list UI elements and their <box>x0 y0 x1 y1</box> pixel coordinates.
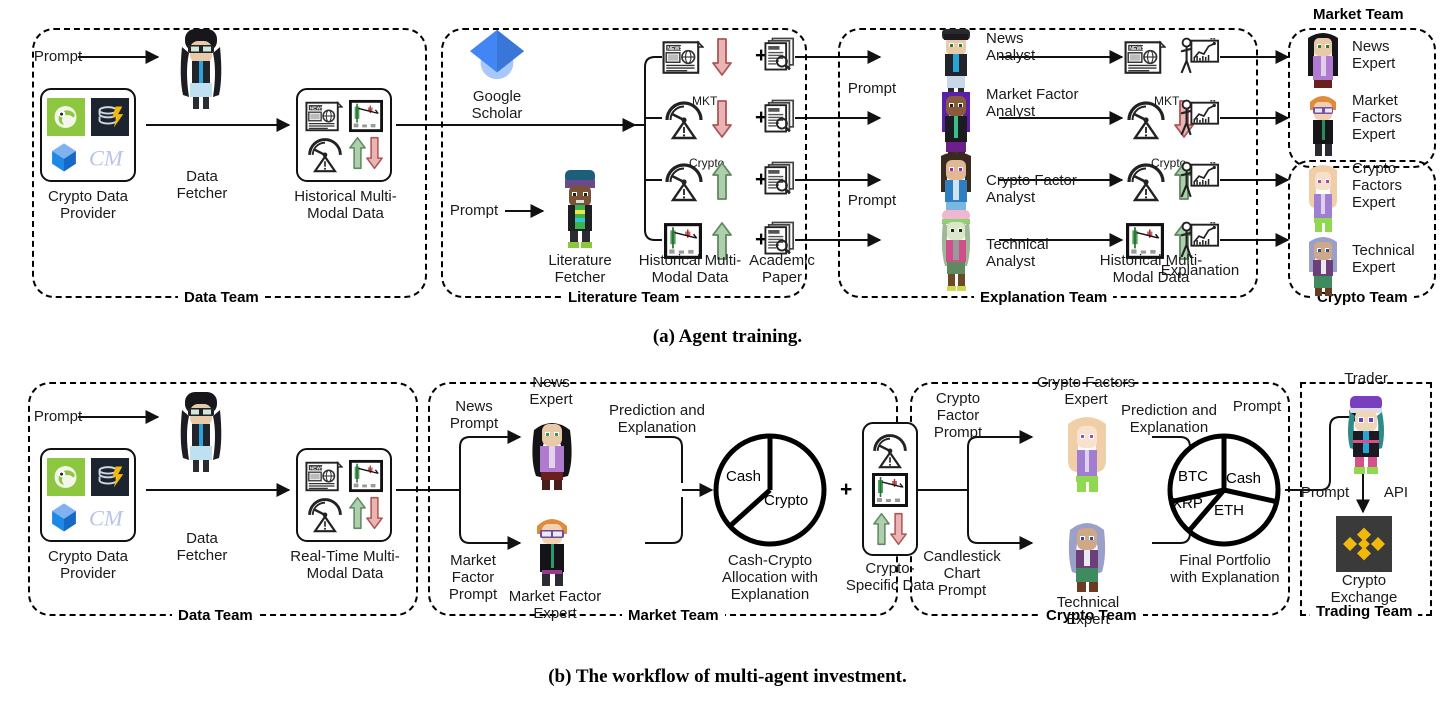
arrow-up-icon <box>349 135 366 171</box>
literature-fetcher-avatar <box>552 168 608 250</box>
gauge-risk-icon <box>305 495 345 533</box>
realtime-data-card <box>296 448 392 542</box>
data-fetcher-label: Data Fetcher <box>166 168 238 202</box>
crypto-factor-analyst-label: Crypto Factor Analyst <box>986 172 1126 206</box>
news-expert-title: News Expert <box>512 374 590 408</box>
crypto-factor-prompt-label: Crypto Factor Prompt <box>920 390 996 441</box>
gauge-risk-icon <box>870 431 910 469</box>
panel-a-prompt-label: Prompt <box>28 48 88 65</box>
gauge-risk-icon <box>305 135 345 173</box>
trader-prompt-label: Prompt <box>1294 484 1356 501</box>
lit-row-arrow-up-icon <box>712 162 732 200</box>
candlestick-icon <box>872 473 908 507</box>
panel-b-data-team-label: Data Team <box>172 607 259 624</box>
pie-slice-label-cash: Cash <box>1226 470 1261 487</box>
coinmarketcap-logo <box>87 142 133 172</box>
academic-paper-icon <box>764 220 796 256</box>
lit-row-news-icon <box>662 38 704 76</box>
literature-prompt-label: Prompt <box>443 202 505 219</box>
news-expert-avatar <box>1300 28 1346 94</box>
market-factor-expert-avatar-b <box>524 510 580 590</box>
explanation-icon <box>1178 36 1220 74</box>
google-scholar-label: Google Scholar <box>454 88 540 122</box>
pie-slice-label-xrp: XRP <box>1172 495 1203 512</box>
panel-b-prompt-label: Prompt <box>28 408 88 425</box>
final-portfolio-caption: Final Portfolio with Explanation <box>1150 552 1300 586</box>
candlestick-chart-prompt-label: Candlestick Chart Prompt <box>918 548 1006 599</box>
arrow-up-icon <box>349 495 366 531</box>
exp-news-icon <box>1124 38 1166 76</box>
panel-a-data-team-label: Data Team <box>178 289 265 306</box>
panel-a-literature-team-label: Literature Team <box>562 289 685 306</box>
data-fetcher-avatar <box>168 25 234 113</box>
candlestick-icon <box>349 459 383 493</box>
arrow-down-icon <box>366 135 383 171</box>
market-factors-expert-avatar <box>1300 90 1346 160</box>
caption-b: (b) The workflow of multi-agent investme… <box>0 666 1455 688</box>
explanation-prompt-bottom: Prompt <box>842 192 902 209</box>
panel-a-explanation-team-label: Explanation Team <box>974 289 1113 306</box>
pie-slice-label-crypto: Crypto <box>764 492 808 509</box>
pie-slice-label-cash: Cash <box>726 468 761 485</box>
caption-a: (a) Agent training. <box>0 326 1455 348</box>
lit-row-arrow-down-icon-2 <box>712 100 732 138</box>
technical-expert-avatar-b <box>1058 514 1116 596</box>
lit-data-label: Historical Multi- Modal Data <box>631 252 749 286</box>
news-expert-avatar-b <box>522 412 582 494</box>
crypto-factors-expert-avatar <box>1300 162 1346 234</box>
technical-expert-title-b: Technical Expert <box>1040 594 1136 628</box>
plus-sign: + <box>840 478 852 502</box>
market-factor-expert-title: Market Factor Expert <box>496 588 614 622</box>
trader-title: Trader <box>1334 370 1398 387</box>
technical-analyst-label: Technical Analyst <box>986 236 1106 270</box>
academic-paper-icon <box>764 98 796 134</box>
lit-row-arrow-down-icon <box>712 38 732 76</box>
coinmarketcap-logo <box>87 502 133 532</box>
panel-a-market-team-label: Market Team <box>1307 6 1410 23</box>
news-prompt-label: News Prompt <box>438 398 510 432</box>
pie-slice-label-btc: BTC <box>1178 468 1208 485</box>
cash-crypto-pie-caption: Cash-Crypto Allocation with Explanation <box>688 552 852 603</box>
arrow-up-icon <box>873 511 890 547</box>
market-factors-expert-label: Market Factors Expert <box>1352 92 1432 143</box>
arrow-down-icon <box>366 495 383 531</box>
literature-fetcher-label: Literature Fetcher <box>534 252 626 286</box>
google-scholar-icon <box>466 28 528 84</box>
explanation-icon <box>1178 160 1220 198</box>
explanation-label: Explanation <box>1150 262 1250 279</box>
news-icon <box>305 459 343 493</box>
data-fetcher-label-b: Data Fetcher <box>166 530 238 564</box>
trader-api-label: API <box>1376 484 1416 501</box>
realtime-data-label: Real-Time Multi- Modal Data <box>286 548 404 582</box>
academic-paper-icon <box>764 36 796 72</box>
academic-paper-icon <box>764 160 796 196</box>
explanation-prompt-top: Prompt <box>842 80 902 97</box>
crypto-specific-data-card <box>862 422 918 556</box>
crypto-edge-label: Prediction and Explanation <box>1098 402 1240 436</box>
binance-logo <box>1336 516 1392 572</box>
technical-analyst-avatar <box>932 208 980 292</box>
historical-data-label-a: Historical Multi- Modal Data <box>288 188 403 222</box>
explanation-icon <box>1178 220 1220 258</box>
data-fetcher-avatar-b <box>168 388 234 476</box>
crypto-data-provider-card <box>40 88 136 182</box>
technical-expert-avatar <box>1300 232 1346 298</box>
candlestick-icon <box>349 99 383 133</box>
market-factor-analyst-label: Market Factor Analyst <box>986 86 1126 120</box>
pie-slice-label-eth: ETH <box>1214 502 1244 519</box>
historical-data-card-a <box>296 88 392 182</box>
crypto-data-provider-label: Crypto Data Provider <box>28 188 148 222</box>
cryptocompare-logo <box>91 458 129 496</box>
trading-prompt-in-label: Prompt <box>1226 398 1288 415</box>
crypto-exchange-label: Crypto Exchange <box>1320 572 1408 606</box>
final-portfolio-pie <box>1166 432 1282 548</box>
crypto-factors-expert-label: Crypto Factors Expert <box>1352 160 1436 211</box>
academic-paper-label: Academic Paper <box>744 252 820 286</box>
explanation-icon <box>1178 98 1220 136</box>
crypto-data-provider-card-b <box>40 448 136 542</box>
market-edge-label: Prediction and Explanation <box>586 402 728 436</box>
trader-avatar <box>1336 392 1396 476</box>
crypto-data-provider-label-b: Crypto Data Provider <box>28 548 148 582</box>
cash-crypto-pie <box>712 432 828 548</box>
news-expert-label: News Expert <box>1352 38 1432 72</box>
news-icon <box>305 99 343 133</box>
coingecko-logo <box>47 458 85 496</box>
cryptocompare-logo <box>91 98 129 136</box>
coingecko-logo <box>47 98 85 136</box>
blockchain-logo <box>47 140 81 174</box>
panel-b-market-team-label: Market Team <box>622 607 725 624</box>
blockchain-logo <box>47 500 81 534</box>
technical-expert-label: Technical Expert <box>1352 242 1436 276</box>
arrow-down-icon <box>890 511 907 547</box>
news-analyst-label: News Analyst <box>986 30 1106 64</box>
